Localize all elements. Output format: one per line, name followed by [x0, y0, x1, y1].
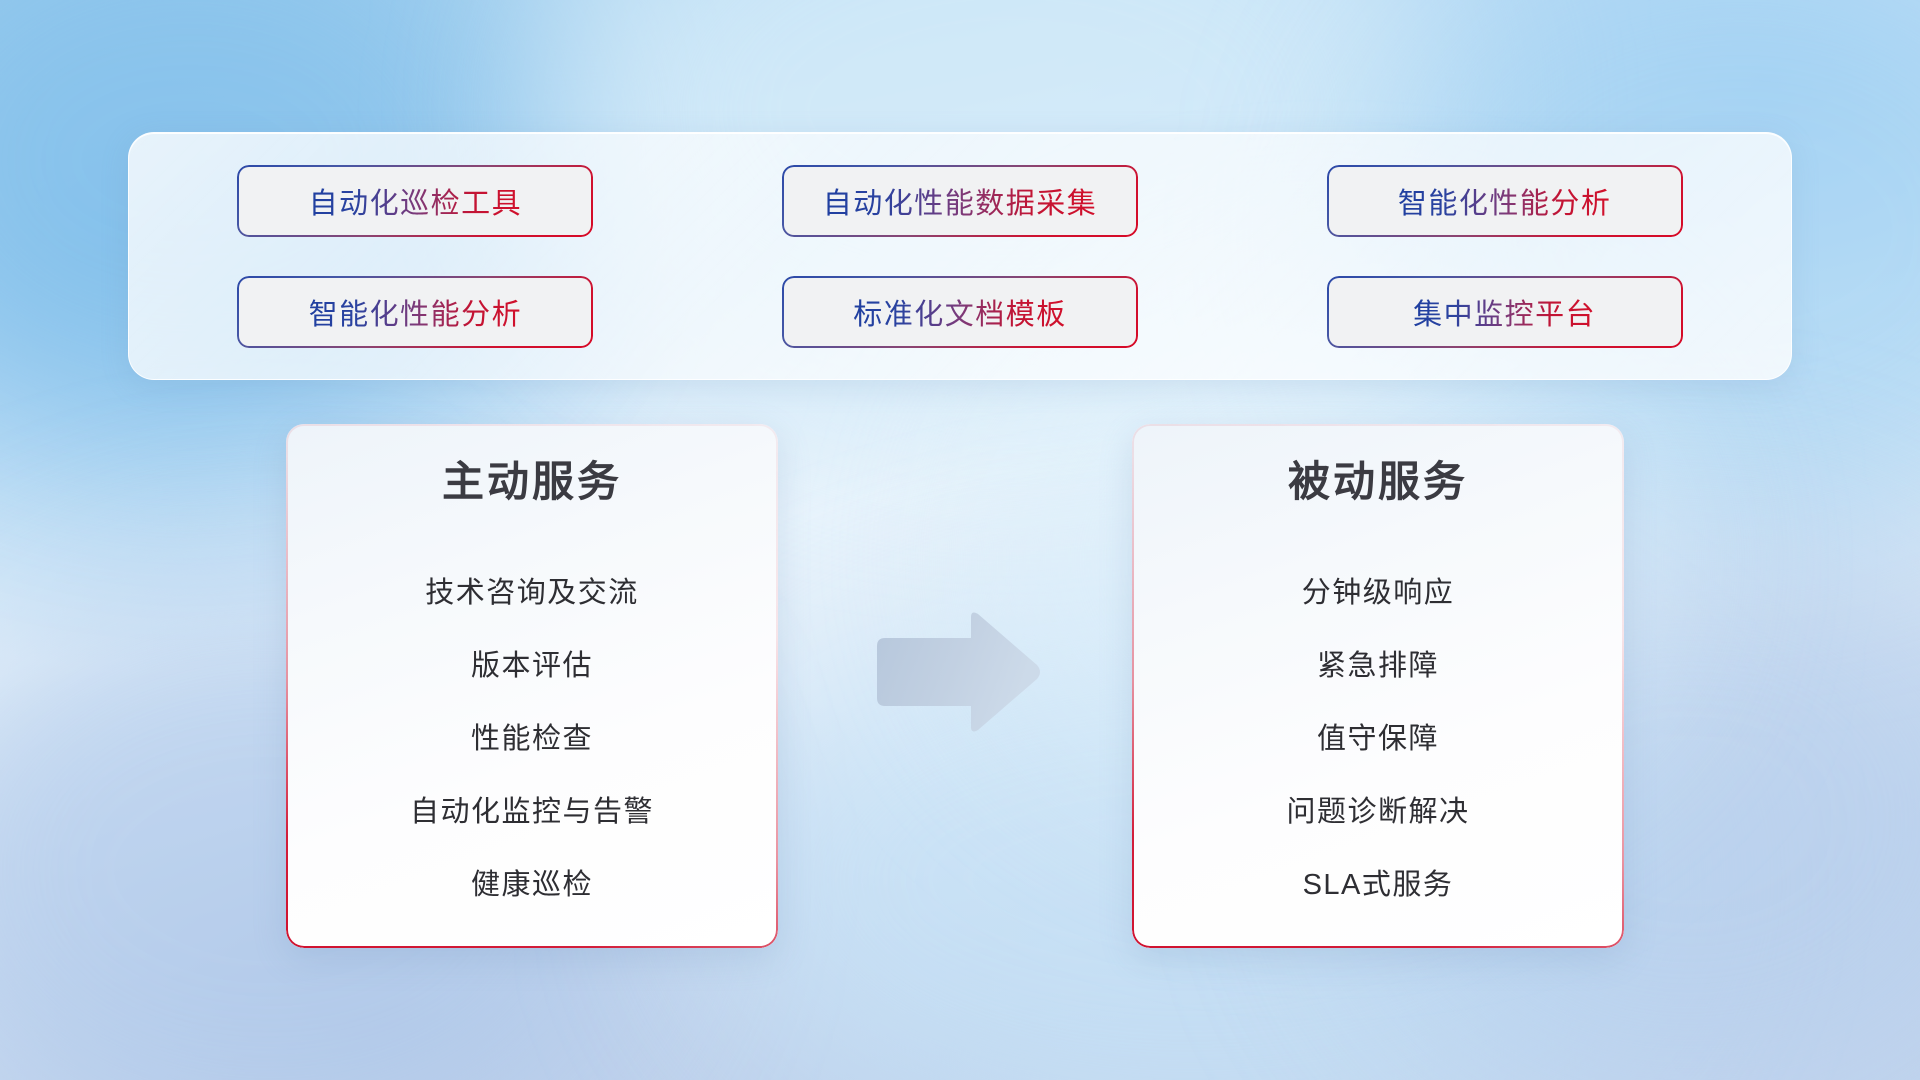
- capability-pill-standard-doc-template[interactable]: 标准化文档模板: [782, 276, 1138, 348]
- list-item: SLA式服务: [1303, 849, 1454, 922]
- list-item: 性能检查: [471, 703, 593, 776]
- capability-pill-label: 自动化性能数据采集: [823, 180, 1098, 222]
- capability-pill-label: 智能化性能分析: [1398, 180, 1612, 222]
- capability-pill-label: 自动化巡检工具: [309, 180, 523, 222]
- list-item: 版本评估: [471, 630, 593, 703]
- list-item: 分钟级响应: [1302, 557, 1455, 630]
- list-item: 值守保障: [1317, 703, 1439, 776]
- title-underline-rule: [1163, 527, 1593, 528]
- capability-pill-intelligent-performance-analysis-top[interactable]: 智能化性能分析: [1327, 165, 1683, 237]
- list-item: 健康巡检: [471, 849, 593, 922]
- capability-pill-automated-inspection-tool[interactable]: 自动化巡检工具: [237, 165, 593, 237]
- capability-pill-automated-performance-collection[interactable]: 自动化性能数据采集: [782, 165, 1138, 237]
- list-item: 技术咨询及交流: [425, 557, 639, 630]
- capability-pill-label: 智能化性能分析: [309, 291, 523, 333]
- title-underline-rule: [317, 527, 747, 528]
- arrow-right-icon: [873, 610, 1043, 735]
- service-card-title: 主动服务: [442, 456, 622, 509]
- list-item: 问题诊断解决: [1286, 776, 1469, 849]
- diagram-canvas: 自动化巡检工具 自动化性能数据采集 智能化性能分析 智能化性能分析 标准化文档模…: [0, 0, 1920, 1080]
- capability-pill-intelligent-performance-analysis-bottom[interactable]: 智能化性能分析: [237, 276, 593, 348]
- service-item-list: 分钟级响应 紧急排障 值守保障 问题诊断解决 SLA式服务: [1162, 557, 1594, 922]
- service-card-reactive: 被动服务 分钟级响应 紧急排障 值守保障 问题诊断解决 SLA式服务: [1132, 424, 1624, 948]
- service-card-proactive: 主动服务 技术咨询及交流 版本评估 性能检查 自动化监控与告警 健康巡检: [286, 424, 778, 948]
- capability-pill-central-monitoring-platform[interactable]: 集中监控平台: [1327, 276, 1683, 348]
- list-item: 紧急排障: [1317, 630, 1439, 703]
- service-card-title: 被动服务: [1288, 456, 1468, 509]
- capability-pill-label: 集中监控平台: [1413, 291, 1596, 333]
- list-item: 自动化监控与告警: [410, 776, 654, 849]
- capabilities-panel: 自动化巡检工具 自动化性能数据采集 智能化性能分析 智能化性能分析 标准化文档模…: [128, 132, 1792, 380]
- capability-pill-label: 标准化文档模板: [853, 291, 1067, 333]
- service-item-list: 技术咨询及交流 版本评估 性能检查 自动化监控与告警 健康巡检: [316, 557, 748, 922]
